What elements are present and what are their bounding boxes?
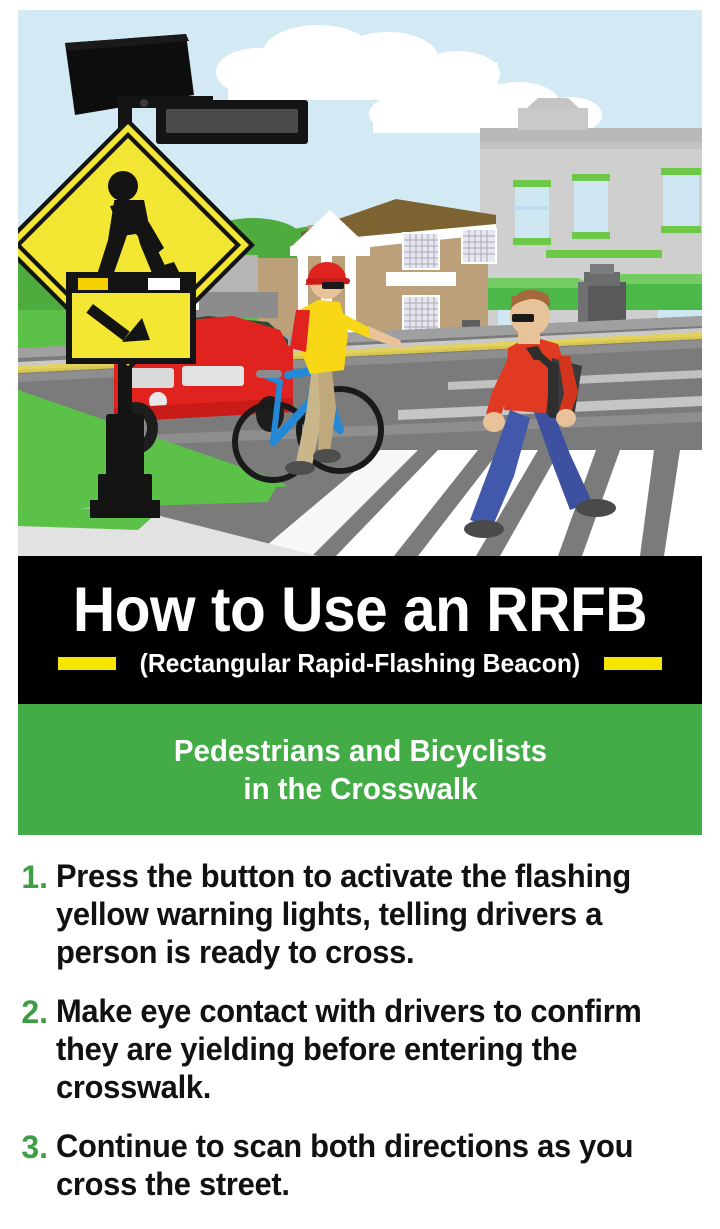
step-text: Press the button to activate the flashin… xyxy=(56,857,677,971)
title-band: How to Use an RRFB (Rectangular Rapid-Fl… xyxy=(18,556,702,704)
subtitle-row: (Rectangular Rapid-Flashing Beacon) xyxy=(18,648,702,678)
section-banner-line1: Pedestrians and Bicyclists xyxy=(173,732,546,770)
section-banner: Pedestrians and Bicyclists in the Crossw… xyxy=(18,704,702,835)
list-item: 2. Make eye contact with drivers to conf… xyxy=(20,992,700,1106)
list-item: 1. Press the button to activate the flas… xyxy=(20,857,700,971)
street-scene-illustration xyxy=(18,10,702,556)
crossing-arrow-plaque xyxy=(66,272,196,364)
dash-right-icon xyxy=(604,657,662,670)
page-title: How to Use an RRFB xyxy=(42,579,678,642)
steps-list: 1. Press the button to activate the flas… xyxy=(18,835,702,1203)
indicator-lamp-white xyxy=(148,278,180,290)
indicator-lamp-yellow xyxy=(78,278,108,290)
page-subtitle: (Rectangular Rapid-Flashing Beacon) xyxy=(140,648,581,678)
step-text: Make eye contact with drivers to confirm… xyxy=(56,992,677,1106)
dash-left-icon xyxy=(58,657,116,670)
infographic-poster: How to Use an RRFB (Rectangular Rapid-Fl… xyxy=(18,10,702,1229)
step-number: 3. xyxy=(20,1127,56,1166)
section-banner-line2: in the Crosswalk xyxy=(173,770,546,808)
step-number: 1. xyxy=(20,857,56,896)
list-item: 3. Continue to scan both directions as y… xyxy=(20,1127,700,1203)
step-number: 2. xyxy=(20,992,56,1031)
step-text: Continue to scan both directions as you … xyxy=(56,1127,677,1203)
